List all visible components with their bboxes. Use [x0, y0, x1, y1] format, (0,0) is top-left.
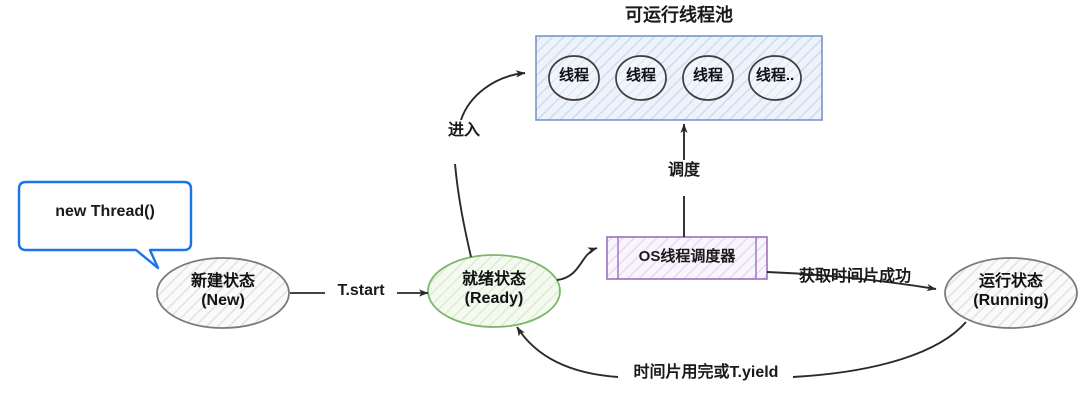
edge-label-start: T.start [325, 282, 397, 300]
edge-yield-left [517, 327, 618, 377]
edge-enter-upper [461, 73, 525, 120]
edge-enter-lower [455, 164, 471, 257]
callout-bubble [19, 182, 191, 268]
thread-pool-caption: 可运行线程池 [536, 5, 822, 26]
state-new-line1: 新建状态 [191, 273, 255, 292]
diagram-canvas: 可运行线程池 线程 线程 线程 线程.. new Thread() 新建状态 (… [0, 0, 1080, 402]
thread-circle-label-1: 线程 [549, 67, 599, 85]
edge-ready-to-scheduler [557, 248, 597, 280]
thread-circle-label-3: 线程 [683, 67, 733, 85]
edge-yield-right [793, 322, 966, 377]
thread-circle-label-2: 线程 [616, 67, 666, 85]
edge-label-dispatch: 调度 [662, 162, 706, 180]
edge-label-enter: 进入 [442, 122, 486, 140]
state-ready-line1: 就绪状态 [462, 271, 526, 290]
edge-label-yield: 时间片用完或T.yield [616, 364, 796, 382]
thread-circle-label-4: 线程.. [748, 67, 802, 85]
state-label-ready: 就绪状态 (Ready) [428, 271, 560, 309]
state-label-new: 新建状态 (New) [157, 273, 289, 311]
state-running-line2: (Running) [973, 292, 1049, 311]
state-label-running: 运行状态 (Running) [945, 273, 1077, 311]
state-running-line1: 运行状态 [979, 273, 1043, 292]
diagram-vector-layer [0, 0, 1080, 402]
callout-label: new Thread() [19, 203, 191, 221]
state-new-line2: (New) [201, 292, 245, 311]
state-ready-line2: (Ready) [465, 290, 524, 309]
edge-label-acquire: 获取时间片成功 [781, 268, 929, 286]
os-scheduler-label: OS线程调度器 [618, 248, 756, 265]
